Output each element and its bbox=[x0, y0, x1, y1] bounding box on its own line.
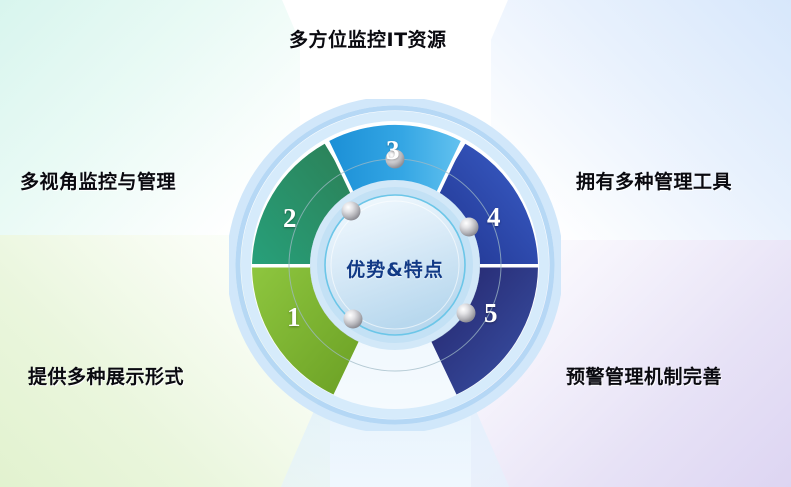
segment-number-2: 2 bbox=[283, 205, 297, 232]
caption-left-upper: 多视角监控与管理 bbox=[20, 167, 176, 194]
segment-number-5: 5 bbox=[484, 300, 498, 327]
marker-sphere-2[interactable] bbox=[342, 202, 361, 221]
segment-number-1: 1 bbox=[287, 304, 301, 331]
caption-right-lower: 预警管理机制完善 bbox=[566, 362, 722, 389]
marker-sphere-4[interactable] bbox=[460, 218, 479, 237]
marker-sphere-1[interactable] bbox=[344, 310, 363, 329]
segment-number-3: 3 bbox=[386, 137, 400, 164]
segment-number-4: 4 bbox=[487, 204, 501, 231]
segmented-wheel: 1 2 3 4 5 优势&特点 bbox=[229, 99, 561, 431]
caption-right-upper: 拥有多种管理工具 bbox=[576, 167, 732, 194]
marker-sphere-5[interactable] bbox=[457, 304, 476, 323]
caption-left-lower: 提供多种展示形式 bbox=[28, 362, 184, 389]
center-label: 优势&特点 bbox=[229, 255, 561, 282]
infographic-canvas: 1 2 3 4 5 优势&特点 多方位监控IT资源 多视角监控与管理 提供多种展… bbox=[0, 0, 791, 487]
caption-top: 多方位监控IT资源 bbox=[289, 25, 447, 52]
